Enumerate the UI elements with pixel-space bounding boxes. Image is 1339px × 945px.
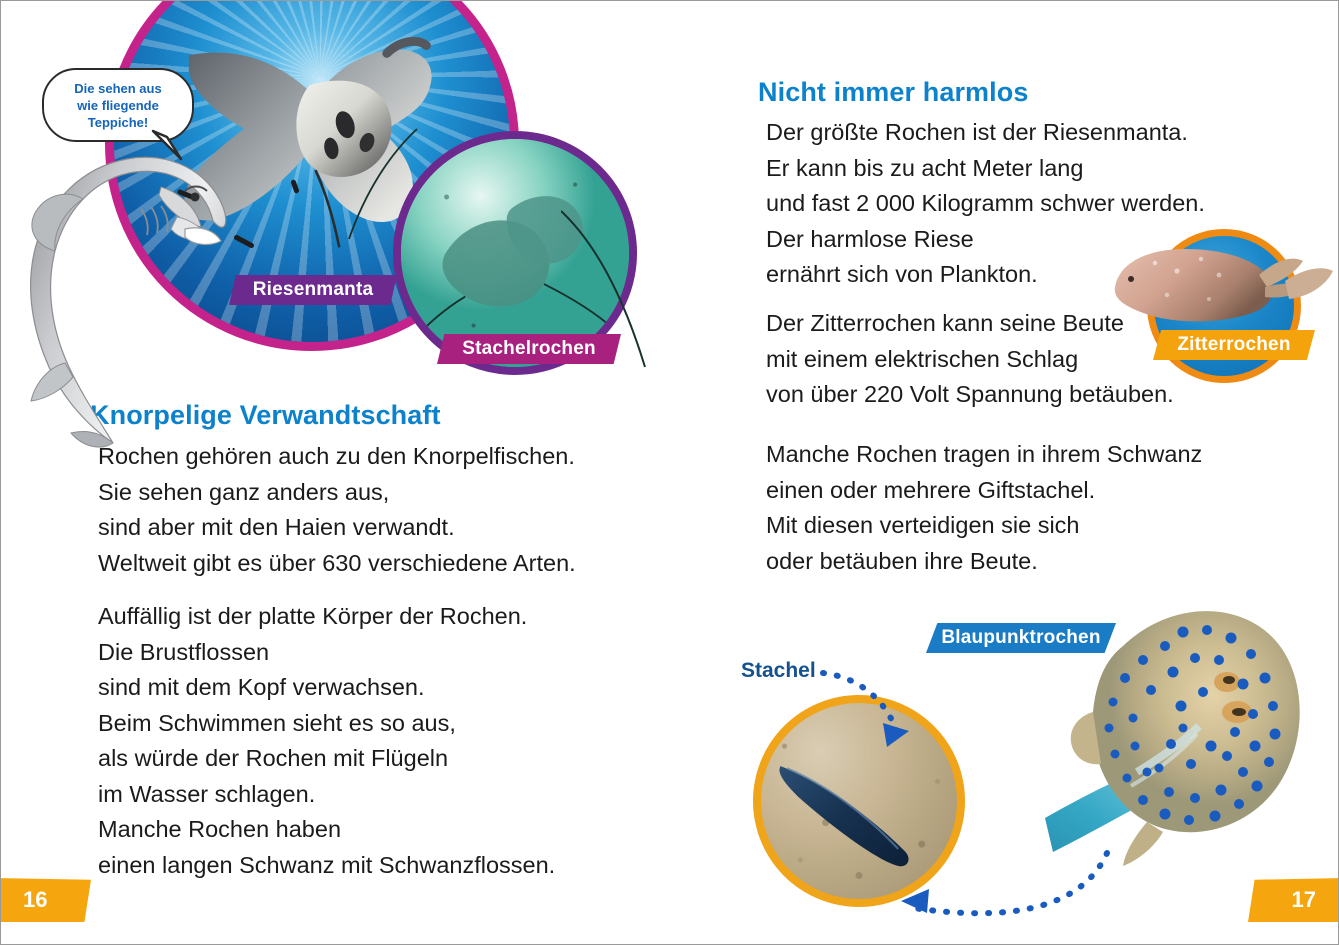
text-line: im Wasser schlagen.	[98, 777, 555, 813]
text-line: von über 220 Volt Spannung betäuben.	[766, 377, 1174, 413]
callout-label-stachel: Stachel	[741, 659, 816, 683]
stingray-tail-overflow	[561, 171, 681, 431]
text-line: Er kann bis zu acht Meter lang	[766, 151, 1205, 187]
right-page-heading: Nicht immer harmlos	[758, 77, 1028, 108]
text-line: sind mit dem Kopf verwachsen.	[98, 670, 555, 706]
speech-bubble-tail-icon	[151, 129, 191, 165]
left-paragraph-1: Rochen gehören auch zu den Knorpelfische…	[98, 439, 576, 581]
text-line: und fast 2 000 Kilogramm schwer werden.	[766, 186, 1205, 222]
speech-bubble-text: Die sehen aus wie fliegende Teppiche!	[66, 80, 169, 131]
text-line: Weltweit gibt es über 630 verschiedene A…	[98, 546, 576, 582]
text-line: als würde der Rochen mit Flügeln	[98, 741, 555, 777]
text-line: Der größte Rochen ist der Riesenmanta.	[766, 115, 1205, 151]
left-paragraph-2: Auffällig ist der platte Körper der Roch…	[98, 599, 555, 883]
book-spread: Die sehen aus wie fliegende Teppiche! Ri…	[0, 0, 1339, 945]
photo-label-zitterrochen: Zitterrochen	[1153, 330, 1315, 360]
text-line: einen oder mehrere Giftstachel.	[766, 473, 1202, 509]
text-line: Beim Schwimmen sieht es so aus,	[98, 706, 555, 742]
shark-mascot-illustration	[9, 151, 239, 451]
dotted-arrow-to-ray-tail-icon	[871, 849, 1131, 939]
stingray-tail-overflow-2	[331, 121, 421, 251]
page-number-left: 16	[0, 878, 91, 922]
text-line: Manche Rochen haben	[98, 812, 555, 848]
text-line: Manche Rochen tragen in ihrem Schwanz	[766, 437, 1202, 473]
right-paragraph-3: Manche Rochen tragen in ihrem Schwanz ei…	[766, 437, 1202, 579]
photo-label-riesenmanta: Riesenmanta	[229, 275, 397, 305]
text-line: sind aber mit den Haien verwandt.	[98, 510, 576, 546]
text-line: einen langen Schwanz mit Schwanzflossen.	[98, 848, 555, 884]
photo-label-blaupunktrochen: Blaupunktrochen	[926, 623, 1116, 653]
text-line: oder betäuben ihre Beute.	[766, 544, 1202, 580]
text-line: Mit diesen verteidigen sie sich	[766, 508, 1202, 544]
text-line: Die Brustflossen	[98, 635, 555, 671]
text-line: Auffällig ist der platte Körper der Roch…	[98, 599, 555, 635]
text-line: Sie sehen ganz anders aus,	[98, 475, 576, 511]
dotted-arrow-to-stachel-icon	[819, 661, 939, 771]
